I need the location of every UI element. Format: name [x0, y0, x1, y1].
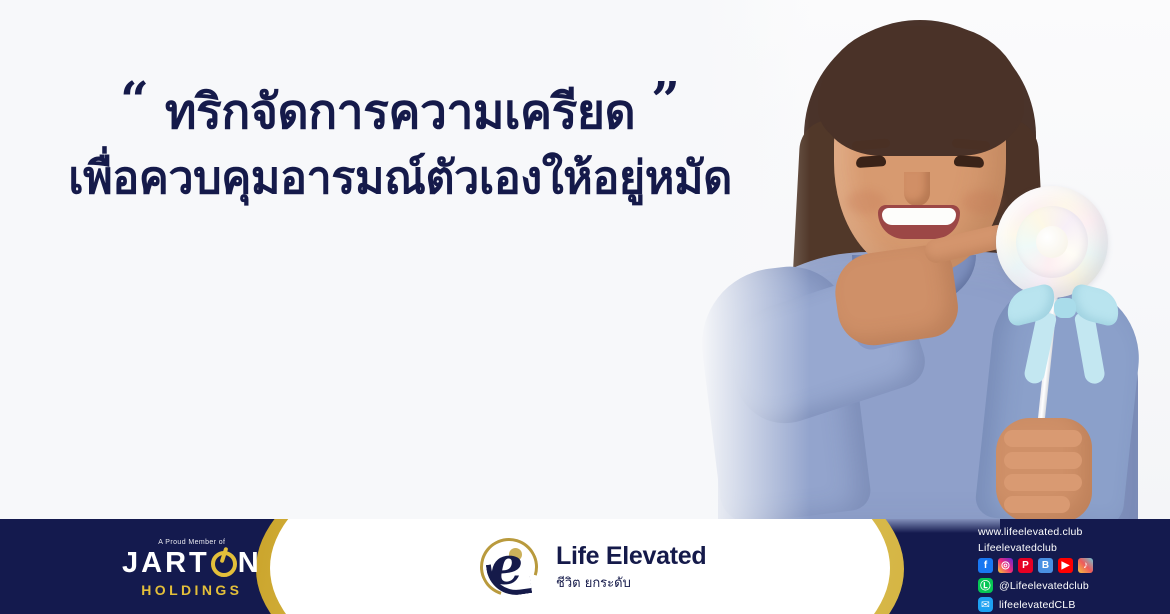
holding-hand [996, 418, 1092, 519]
nose [904, 172, 930, 206]
contact-block: www.lifeelevated.club Lifeelevatedclub f… [978, 526, 1154, 614]
eye-right [954, 155, 985, 168]
instagram-icon[interactable]: ◎ [998, 558, 1013, 573]
headline-block: “ ทริกจัดการความเครียด ” เพื่อควบคุมอารม… [0, 84, 800, 205]
jarton-o-icon [211, 551, 237, 577]
pinterest-icon[interactable]: P [1018, 558, 1033, 573]
tiktok-icon[interactable]: ♪ [1078, 558, 1093, 573]
twitter-contact-row[interactable]: ✉ lifeelevatedCLB [978, 597, 1154, 612]
finger-4 [1004, 496, 1070, 513]
line-handle: @Lifeelevatedclub [999, 580, 1089, 592]
website-url[interactable]: www.lifeelevated.club [978, 526, 1154, 538]
jarton-name-part1: JART [122, 549, 210, 578]
jarton-holdings-logo[interactable]: A Proud Member of JART N HOLDINGS [122, 539, 262, 597]
smiling-mouth [878, 205, 960, 239]
logo-letter-e: e [490, 546, 532, 594]
hero-section: “ ทริกจัดการความเครียด ” เพื่อควบคุมอารม… [0, 0, 1170, 519]
life-elevated-name: Life Elevated [556, 543, 706, 571]
cheek-right [962, 190, 1002, 214]
youtube-icon[interactable]: ▶ [1058, 558, 1073, 573]
footer-bar: A Proud Member of JART N HOLDINGS e Life [0, 519, 1170, 614]
teeth [882, 208, 956, 225]
jarton-wordmark: JART N [122, 549, 262, 578]
hair-fringe [818, 26, 1024, 142]
social-icons-row[interactable]: f◎PB▶♪ [978, 558, 1154, 573]
eye-left [856, 155, 887, 168]
promo-banner: “ ทริกจัดการความเครียด ” เพื่อควบคุมอารม… [0, 0, 1170, 614]
ribbon-knot [1054, 298, 1076, 318]
life-elevated-text: Life Elevated ชีวิต ยกระดับ [556, 543, 706, 594]
life-elevated-logo[interactable]: e Life Elevated ชีวิต ยกระดับ [478, 536, 706, 600]
model-photo [700, 0, 1170, 519]
lollipop-swirl [996, 186, 1108, 298]
life-elevated-tagline: ชีวิต ยกระดับ [556, 572, 706, 593]
finger-2 [1004, 452, 1082, 469]
blogger-icon[interactable]: B [1038, 558, 1053, 573]
jarton-subtitle: HOLDINGS [122, 583, 262, 597]
jarton-name-part2: N [238, 549, 262, 578]
line-icon: Ⓛ [978, 578, 993, 593]
line-contact-row[interactable]: Ⓛ @Lifeelevatedclub [978, 578, 1154, 593]
twitter-icon: ✉ [978, 597, 993, 612]
life-elevated-mark-icon: e [478, 536, 542, 600]
headline-line-1-row: “ ทริกจัดการความเครียด ” [0, 84, 800, 141]
finger-3 [1004, 474, 1082, 491]
headline-line-1: ทริกจัดการความเครียด [165, 84, 635, 141]
close-quote-icon: ” [651, 75, 680, 125]
finger-1 [1004, 430, 1082, 447]
lollipop-ribbon-bow [1006, 284, 1124, 338]
social-handle: Lifeelevatedclub [978, 542, 1154, 554]
jarton-proud-member-text: A Proud Member of [122, 539, 262, 546]
facebook-icon[interactable]: f [978, 558, 993, 573]
open-quote-icon: “ [120, 75, 149, 125]
headline-line-2: เพื่อควบคุมอารมณ์ตัวเองให้อยู่หมัด [0, 151, 800, 205]
twitter-handle: lifeelevatedCLB [999, 599, 1076, 611]
